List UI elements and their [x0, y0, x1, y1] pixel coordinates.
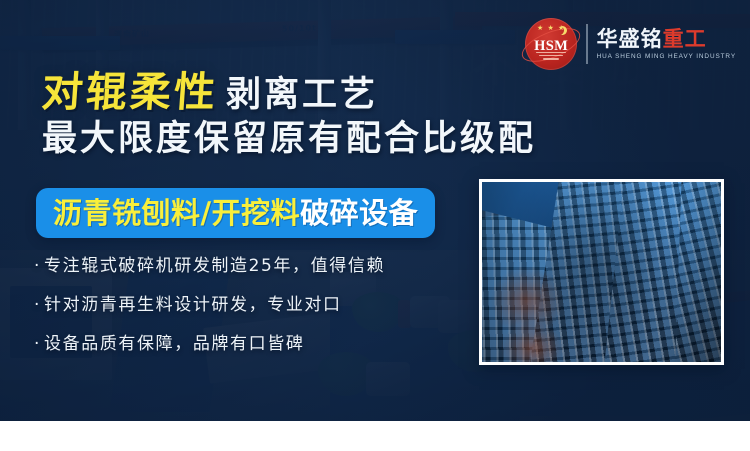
- emblem-waves: [536, 52, 566, 61]
- product-category-badge[interactable]: 沥青铣刨料/开挖料破碎设备: [36, 188, 435, 238]
- logo-wordmark: 华盛铭重工 HUA SHENG MING HEAVY INDUSTRY: [597, 28, 736, 59]
- hsm-globe-emblem-icon: ★ ★ ★ HSM: [525, 18, 577, 70]
- list-item-label: 设备品质有保障，品牌有口皆碑: [44, 336, 304, 353]
- headline-line-1: 对辊柔性 剥离工艺: [42, 72, 536, 113]
- logo-name-cn: 华盛铭重工: [597, 28, 736, 50]
- emblem-stars: ★ ★ ★: [525, 24, 577, 32]
- headline-block: 对辊柔性 剥离工艺 最大限度保留原有配合比级配: [42, 72, 536, 157]
- bullet-dot-icon: ·: [34, 336, 41, 353]
- bullet-dot-icon: ·: [34, 258, 41, 275]
- bullet-dot-icon: ·: [34, 297, 41, 314]
- brand-logo[interactable]: ★ ★ ★ HSM 华盛铭重工 HUA SHENG MING HEAVY IND…: [525, 18, 736, 70]
- logo-name-cn-primary: 华盛铭: [597, 27, 663, 51]
- list-item: · 设备品质有保障，品牌有口皆碑: [34, 336, 385, 353]
- promo-banner: 河南矿山 50/10t 不 要 放: [0, 0, 750, 421]
- product-photo: [482, 182, 721, 362]
- logo-name-cn-accent: 重工: [663, 27, 707, 51]
- list-item-label: 针对沥青再生料设计研发，专业对口: [44, 297, 342, 314]
- selling-points-list: · 专注辊式破碎机研发制造25年，值得信赖 · 针对沥青再生料设计研发，专业对口…: [34, 258, 385, 375]
- list-item: · 专注辊式破碎机研发制造25年，值得信赖: [34, 258, 385, 275]
- list-item-label: 专注辊式破碎机研发制造25年，值得信赖: [44, 258, 385, 275]
- logo-divider: [586, 24, 588, 64]
- product-badge-highlight: 沥青铣刨料/开挖料: [53, 199, 300, 228]
- logo-name-en: HUA SHENG MING HEAVY INDUSTRY: [597, 53, 736, 60]
- headline-line-1-rest: 剥离工艺: [226, 78, 378, 113]
- headline-highlight: 对辊柔性: [41, 72, 220, 113]
- headline-line-2: 最大限度保留原有配合比级配: [42, 122, 536, 157]
- product-photo-card[interactable]: [479, 179, 724, 365]
- list-item: · 针对沥青再生料设计研发，专业对口: [34, 297, 385, 314]
- product-badge-rest: 破碎设备: [300, 199, 418, 228]
- page-footer-whitespace: [0, 421, 750, 451]
- photo-shading: [482, 182, 721, 362]
